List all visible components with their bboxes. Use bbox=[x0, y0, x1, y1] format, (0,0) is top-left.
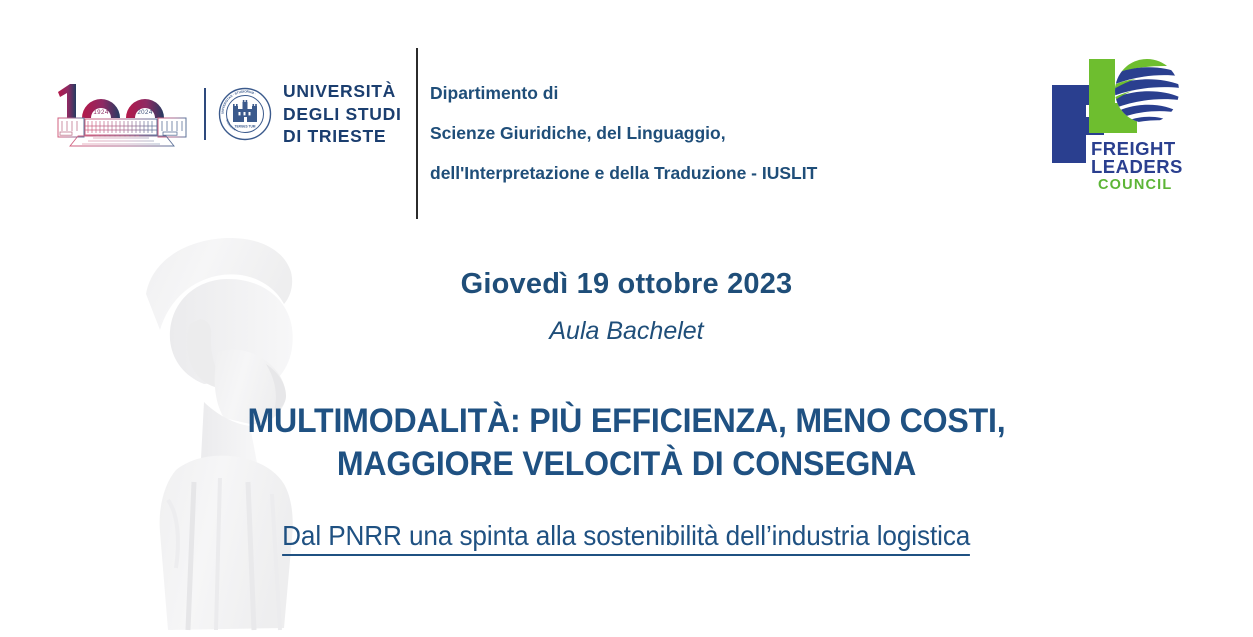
department-line-3: dell'Interpretazione e della Traduzione … bbox=[430, 153, 817, 193]
svg-text:1924: 1924 bbox=[93, 109, 109, 116]
university-logo-group: 1924 2024 bbox=[48, 78, 402, 150]
department-line-2: Scienze Giuridiche, del Linguaggio, bbox=[430, 113, 817, 153]
header-vertical-divider bbox=[416, 48, 418, 219]
flc-wordmark-leaders: LEADERS bbox=[1091, 156, 1183, 177]
university-name-line-3: DI TRIESTE bbox=[283, 125, 402, 147]
university-name-line-1: UNIVERSITÀ bbox=[283, 80, 402, 102]
event-title-line-2: MAGGIORE VELOCITÀ DI CONSEGNA bbox=[44, 443, 1209, 486]
page-header: 1924 2024 bbox=[0, 0, 1253, 235]
university-name-line-2: DEGLI STUDI bbox=[283, 103, 402, 125]
event-title-line-1: MULTIMODALITÀ: PIÙ EFFICIENZA, MENO COST… bbox=[247, 402, 1005, 440]
university-seal-icon: UNIVERSITAS · STUDIORUM · · MCMXXIV · TE… bbox=[218, 87, 272, 141]
centenary-100-logo-icon: 1924 2024 bbox=[48, 78, 196, 150]
event-subtitle: Dal PNRR una spinta alla sostenibilità d… bbox=[282, 520, 970, 556]
flc-wordmark-council: COUNCIL bbox=[1098, 177, 1172, 193]
event-date: Giovedì 19 ottobre 2023 bbox=[0, 250, 1253, 301]
svg-text:TERGES TUM: TERGES TUM bbox=[235, 125, 256, 129]
freight-leaders-council-logo-icon: FREIGHT LEADERS COUNCIL bbox=[1046, 55, 1196, 205]
event-announcement: Giovedì 19 ottobre 2023 Aula Bachelet MU… bbox=[0, 250, 1253, 556]
event-title: MULTIMODALITÀ: PIÙ EFFICIENZA, MENO COST… bbox=[44, 346, 1209, 486]
logo-separator bbox=[204, 88, 206, 140]
department-name: Dipartimento di Scienze Giuridiche, del … bbox=[430, 73, 817, 193]
event-room: Aula Bachelet bbox=[0, 301, 1253, 346]
department-line-1: Dipartimento di bbox=[430, 73, 817, 113]
university-name: UNIVERSITÀ DEGLI STUDI DI TRIESTE bbox=[283, 80, 402, 147]
svg-text:2024: 2024 bbox=[137, 109, 153, 116]
